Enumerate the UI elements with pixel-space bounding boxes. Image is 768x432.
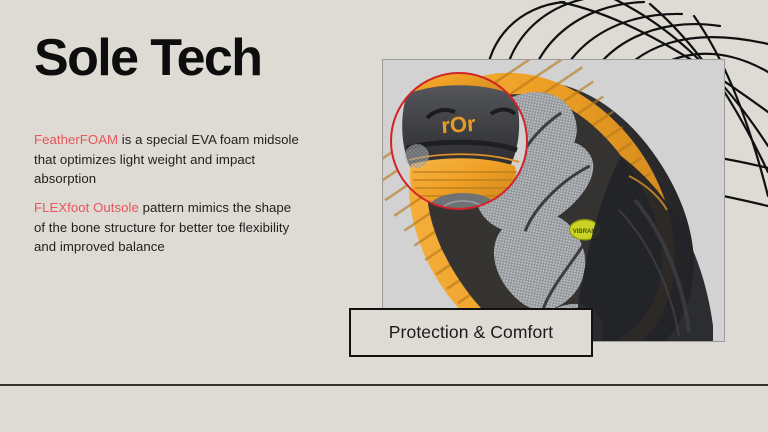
slide-canvas: Sole Tech FeatherFOAM is a special EVA f…: [0, 0, 768, 432]
footer-divider: [0, 384, 768, 386]
caption-box: Protection & Comfort: [349, 308, 593, 357]
shoe-outsole-photo: VIBRAM: [383, 60, 724, 341]
image-panel: VIBRAM: [382, 59, 725, 342]
page-title: Sole Tech: [34, 30, 261, 86]
caption-label: Protection & Comfort: [389, 322, 553, 343]
paragraph-flexfoot: FLEXfoot Outsole pattern mimics the shap…: [34, 198, 300, 257]
svg-text:rOr: rOr: [441, 111, 477, 138]
accent-term-flexfoot: FLEXfoot Outsole: [34, 200, 139, 215]
paragraph-featherfoam: FeatherFOAM is a special EVA foam midsol…: [34, 130, 300, 189]
accent-term-featherfoam: FeatherFOAM: [34, 132, 118, 147]
